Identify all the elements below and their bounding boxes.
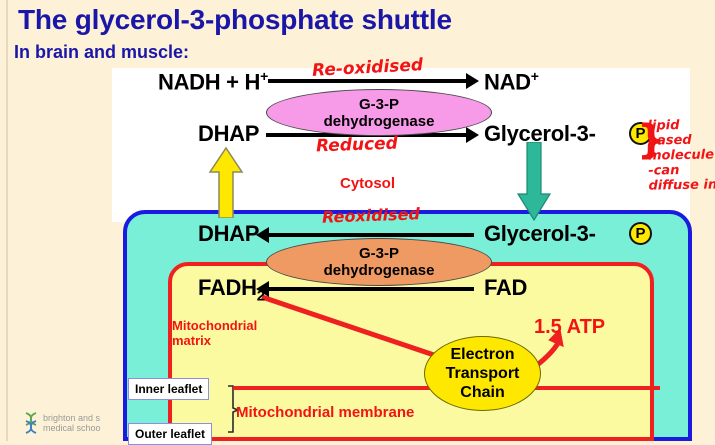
phosphate-icon-mitochondrion: P: [629, 222, 652, 245]
left-margin-rule: [6, 0, 8, 441]
enzyme-name-line2: dehydrogenase: [324, 262, 435, 279]
arrowhead-nadh-to-nad: [466, 73, 479, 89]
enzyme-g3p-dehydrogenase-cytosolic: G-3-P dehydrogenase: [266, 89, 492, 136]
annotation-reoxidised-mitochondrion: Reoxidised: [322, 204, 421, 226]
arrow-fad-to-fadh2: [268, 287, 474, 291]
label-dhap-cytosol: DHAP: [198, 121, 259, 147]
label-fad: FAD: [484, 275, 527, 301]
institution-logo: brighton and s medical schoo: [24, 412, 101, 434]
label-inner-leaflet: Inner leaflet: [128, 378, 209, 400]
label-dhap-mitochondrion: DHAP: [198, 221, 259, 247]
logo-text-line1: brighton and s: [43, 413, 101, 423]
lipid-note-line2: molecule: [648, 147, 714, 163]
arrowhead-dhap-to-glycerol3p: [466, 127, 479, 143]
label-glycerol3p-mitochondrion: Glycerol-3-: [484, 221, 596, 247]
slide-canvas: The glycerol-3-phosphate shuttle In brai…: [0, 0, 715, 441]
label-nad-plus: NAD+: [484, 68, 539, 95]
annotation-reduced-cytosol: Reduced: [316, 134, 398, 157]
helix-icon: [24, 412, 38, 434]
matrix-label-line2: matrix: [172, 333, 211, 348]
logo-text: brighton and s medical schoo: [43, 413, 101, 433]
lipid-note-line3: -can diffuse in: [648, 163, 715, 194]
enzyme-g3p-dehydrogenase-mitochondrial: G-3-P dehydrogenase: [266, 238, 492, 286]
slide-subtitle: In brain and muscle:: [14, 42, 189, 63]
label-mitochondrial-matrix: Mitochondrial matrix: [172, 318, 282, 348]
dhap-transport-up-arrow: [208, 146, 244, 218]
arrow-nadh-to-nad: [268, 79, 468, 83]
enzyme-name-line2: dehydrogenase: [324, 113, 435, 130]
label-cytosol: Cytosol: [340, 175, 395, 192]
logo-text-line2: medical schoo: [43, 423, 101, 433]
etc-line2: Transport: [446, 364, 520, 383]
label-outer-leaflet: Outer leaflet: [128, 423, 212, 445]
enzyme-name-line1: G-3-P: [324, 96, 435, 113]
glycerol3p-transport-down-arrow: [516, 142, 552, 222]
etc-line3: Chain: [460, 383, 504, 402]
lipid-note-line1: lipid based: [647, 118, 691, 149]
page-title: The glycerol-3-phosphate shuttle: [18, 4, 452, 36]
arrow-glycerol3p-to-dhap: [268, 233, 474, 237]
matrix-label-line1: Mitochondrial: [172, 318, 257, 333]
arrowhead-glycerol3p-to-dhap: [256, 227, 269, 243]
label-mitochondrial-membrane: Mitochondrial membrane: [236, 404, 414, 421]
label-fadh2: FADH2: [198, 275, 265, 304]
electron-transport-chain: Electron Transport Chain: [424, 336, 541, 411]
enzyme-name-line1: G-3-P: [324, 245, 435, 262]
annotation-lipid-note: lipid based molecule -can diffuse in: [647, 117, 715, 193]
label-nadh: NADH + H+: [158, 68, 268, 95]
label-atp-yield: 1.5 ATP: [534, 316, 605, 339]
etc-line1: Electron: [450, 345, 514, 364]
arrowhead-fad-to-fadh2: [256, 281, 269, 297]
